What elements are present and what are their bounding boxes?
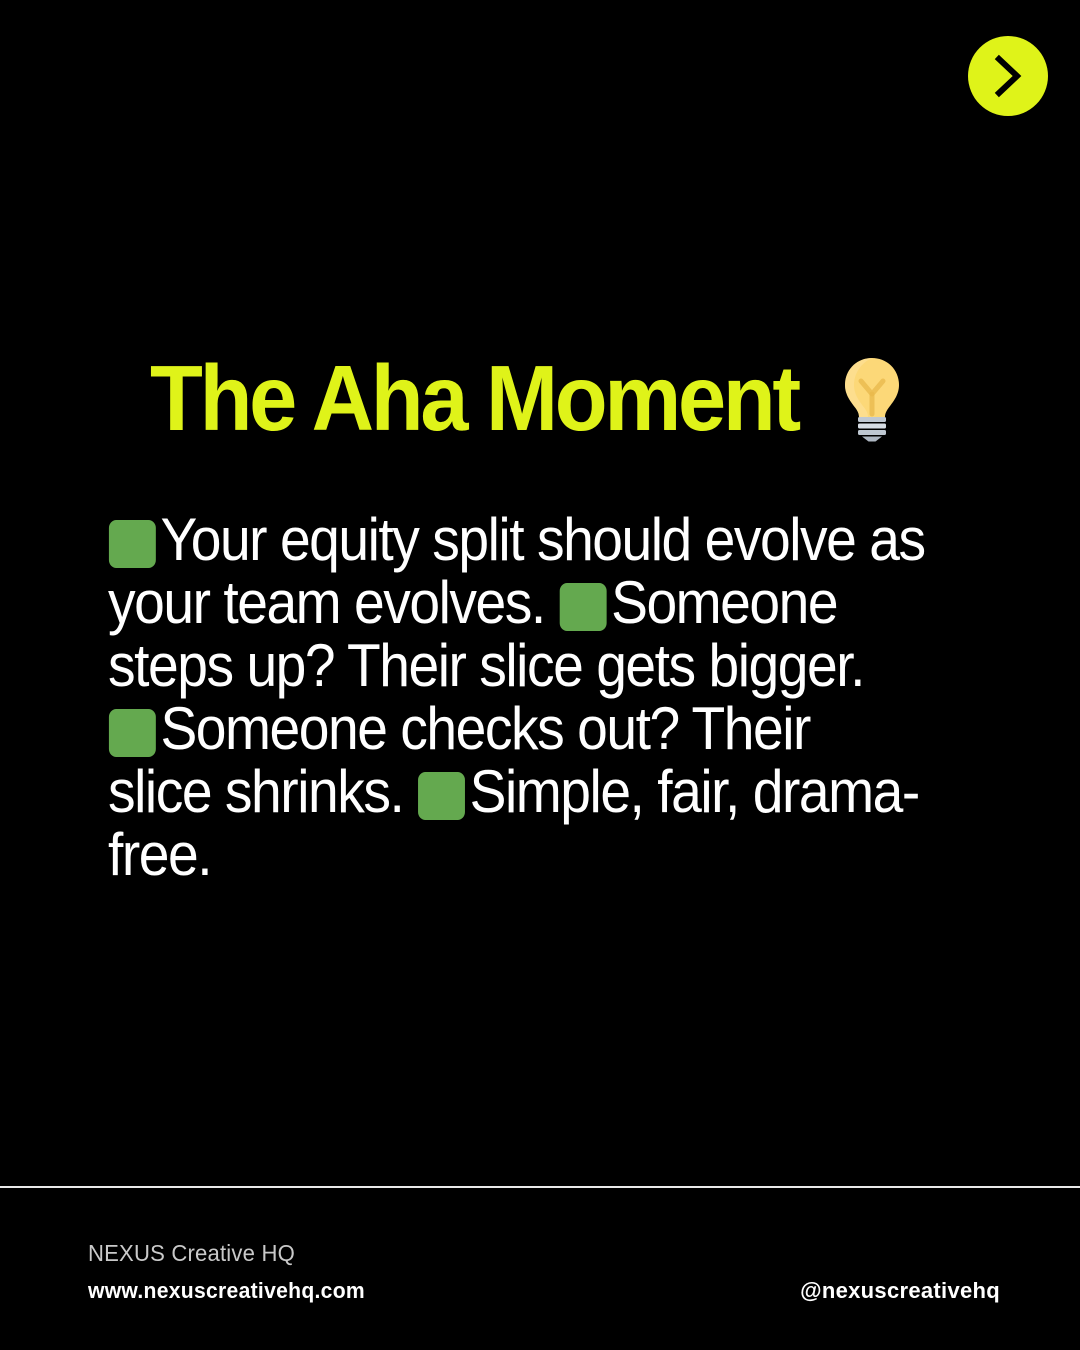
next-slide-button[interactable] bbox=[968, 36, 1048, 116]
chevron-right-icon bbox=[991, 54, 1025, 98]
social-post-slide: The Aha Moment Your equity split should … bbox=[0, 0, 1080, 1350]
social-handle[interactable]: @nexuscreativehq bbox=[800, 1278, 1000, 1304]
lightbulb-icon bbox=[841, 356, 903, 442]
check-mark-button-icon bbox=[559, 582, 608, 632]
check-mark-button-icon bbox=[108, 519, 157, 569]
brand-website[interactable]: www.nexuscreativehq.com bbox=[88, 1278, 365, 1304]
footer: NEXUS Creative HQ www.nexuscreativehq.co… bbox=[0, 1186, 1080, 1350]
page-title: The Aha Moment bbox=[150, 352, 903, 445]
brand-name: NEXUS Creative HQ bbox=[88, 1240, 365, 1267]
check-mark-button-icon bbox=[417, 771, 466, 821]
page-title-text: The Aha Moment bbox=[150, 352, 798, 445]
bullet-list: Your equity split should evolve as your … bbox=[108, 508, 927, 886]
footer-brand-block: NEXUS Creative HQ www.nexuscreativehq.co… bbox=[88, 1240, 377, 1304]
check-mark-button-icon bbox=[108, 708, 157, 758]
